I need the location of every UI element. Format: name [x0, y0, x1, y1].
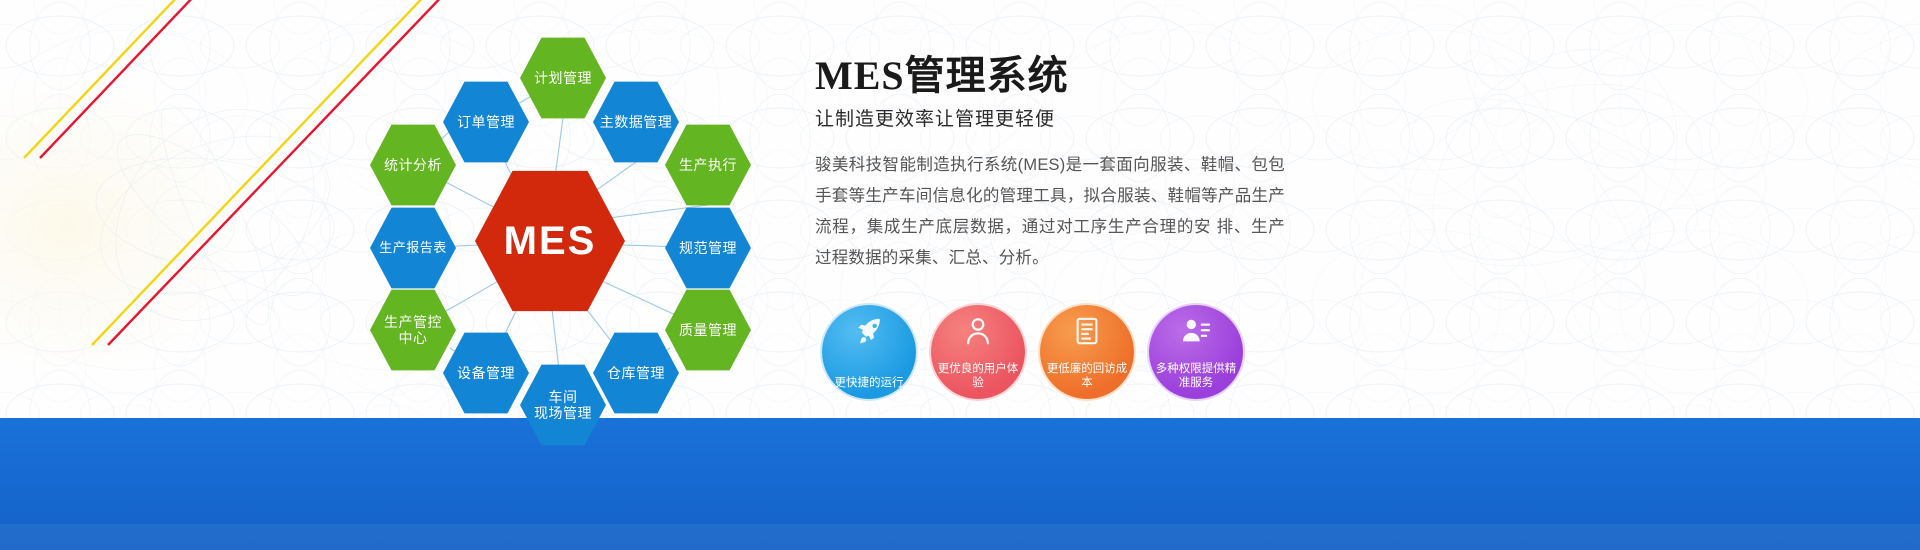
- hex-label: 生产报告表: [379, 241, 447, 256]
- hex-label: 计划管理: [534, 70, 592, 86]
- hex-label: 质量管理: [679, 322, 737, 338]
- user-icon: [963, 316, 993, 346]
- page-subtitle: 让制造更效率让管理更轻便: [815, 104, 1285, 131]
- mes-banner: MES 计划管理 主数据管理 生产执行 规范管理 质量管理 仓库管理 车间 现场…: [0, 0, 1920, 550]
- content-block: MES管理系统 让制造更效率让管理更轻便 骏美科技智能制造执行系统(MES)是一…: [815, 55, 1285, 274]
- mes-hexagon-diagram: MES 计划管理 主数据管理 生产执行 规范管理 质量管理 仓库管理 车间 现场…: [330, 18, 770, 438]
- hex-label: 规范管理: [679, 240, 737, 256]
- badge-label: 更低廉的回访成本: [1045, 362, 1129, 390]
- hex-label: 统计分析: [384, 157, 442, 173]
- badge-label: 更优良的用户体验: [936, 362, 1020, 390]
- hex-label: 车间 现场管理: [534, 389, 592, 421]
- hex-label: 主数据管理: [600, 114, 673, 130]
- badge-label: 更快捷的运行: [827, 376, 911, 390]
- hex-label: 设备管理: [457, 365, 515, 381]
- badge-better-user-experience[interactable]: 更优良的用户体验: [931, 305, 1025, 399]
- badge-lower-revisit-cost[interactable]: 更低廉的回访成本: [1040, 305, 1134, 399]
- badge-label: 多种权限提供精准服务: [1154, 362, 1238, 390]
- hex-label: 生产管控 中心: [384, 314, 442, 346]
- description-paragraph: 骏美科技智能制造执行系统(MES)是一套面向服装、鞋帽、包包手套等生产车间信息化…: [815, 150, 1285, 274]
- permissions-icon: [1181, 316, 1211, 346]
- hex-label: 订单管理: [457, 114, 515, 130]
- page-title: MES管理系统: [815, 55, 1285, 97]
- feature-badges: 更快捷的运行 更优良的用户体验 更低廉的回访成本: [822, 305, 1262, 405]
- badge-faster-operation[interactable]: 更快捷的运行: [822, 305, 916, 399]
- hex-label: 生产执行: [679, 157, 737, 173]
- bottom-blue-band: [0, 418, 1920, 550]
- hex-core-label: MES: [504, 218, 597, 264]
- list-icon: [1072, 316, 1102, 346]
- rocket-icon: [854, 316, 884, 346]
- hex-label: 仓库管理: [607, 365, 665, 381]
- badge-precise-permission-service[interactable]: 多种权限提供精准服务: [1149, 305, 1243, 399]
